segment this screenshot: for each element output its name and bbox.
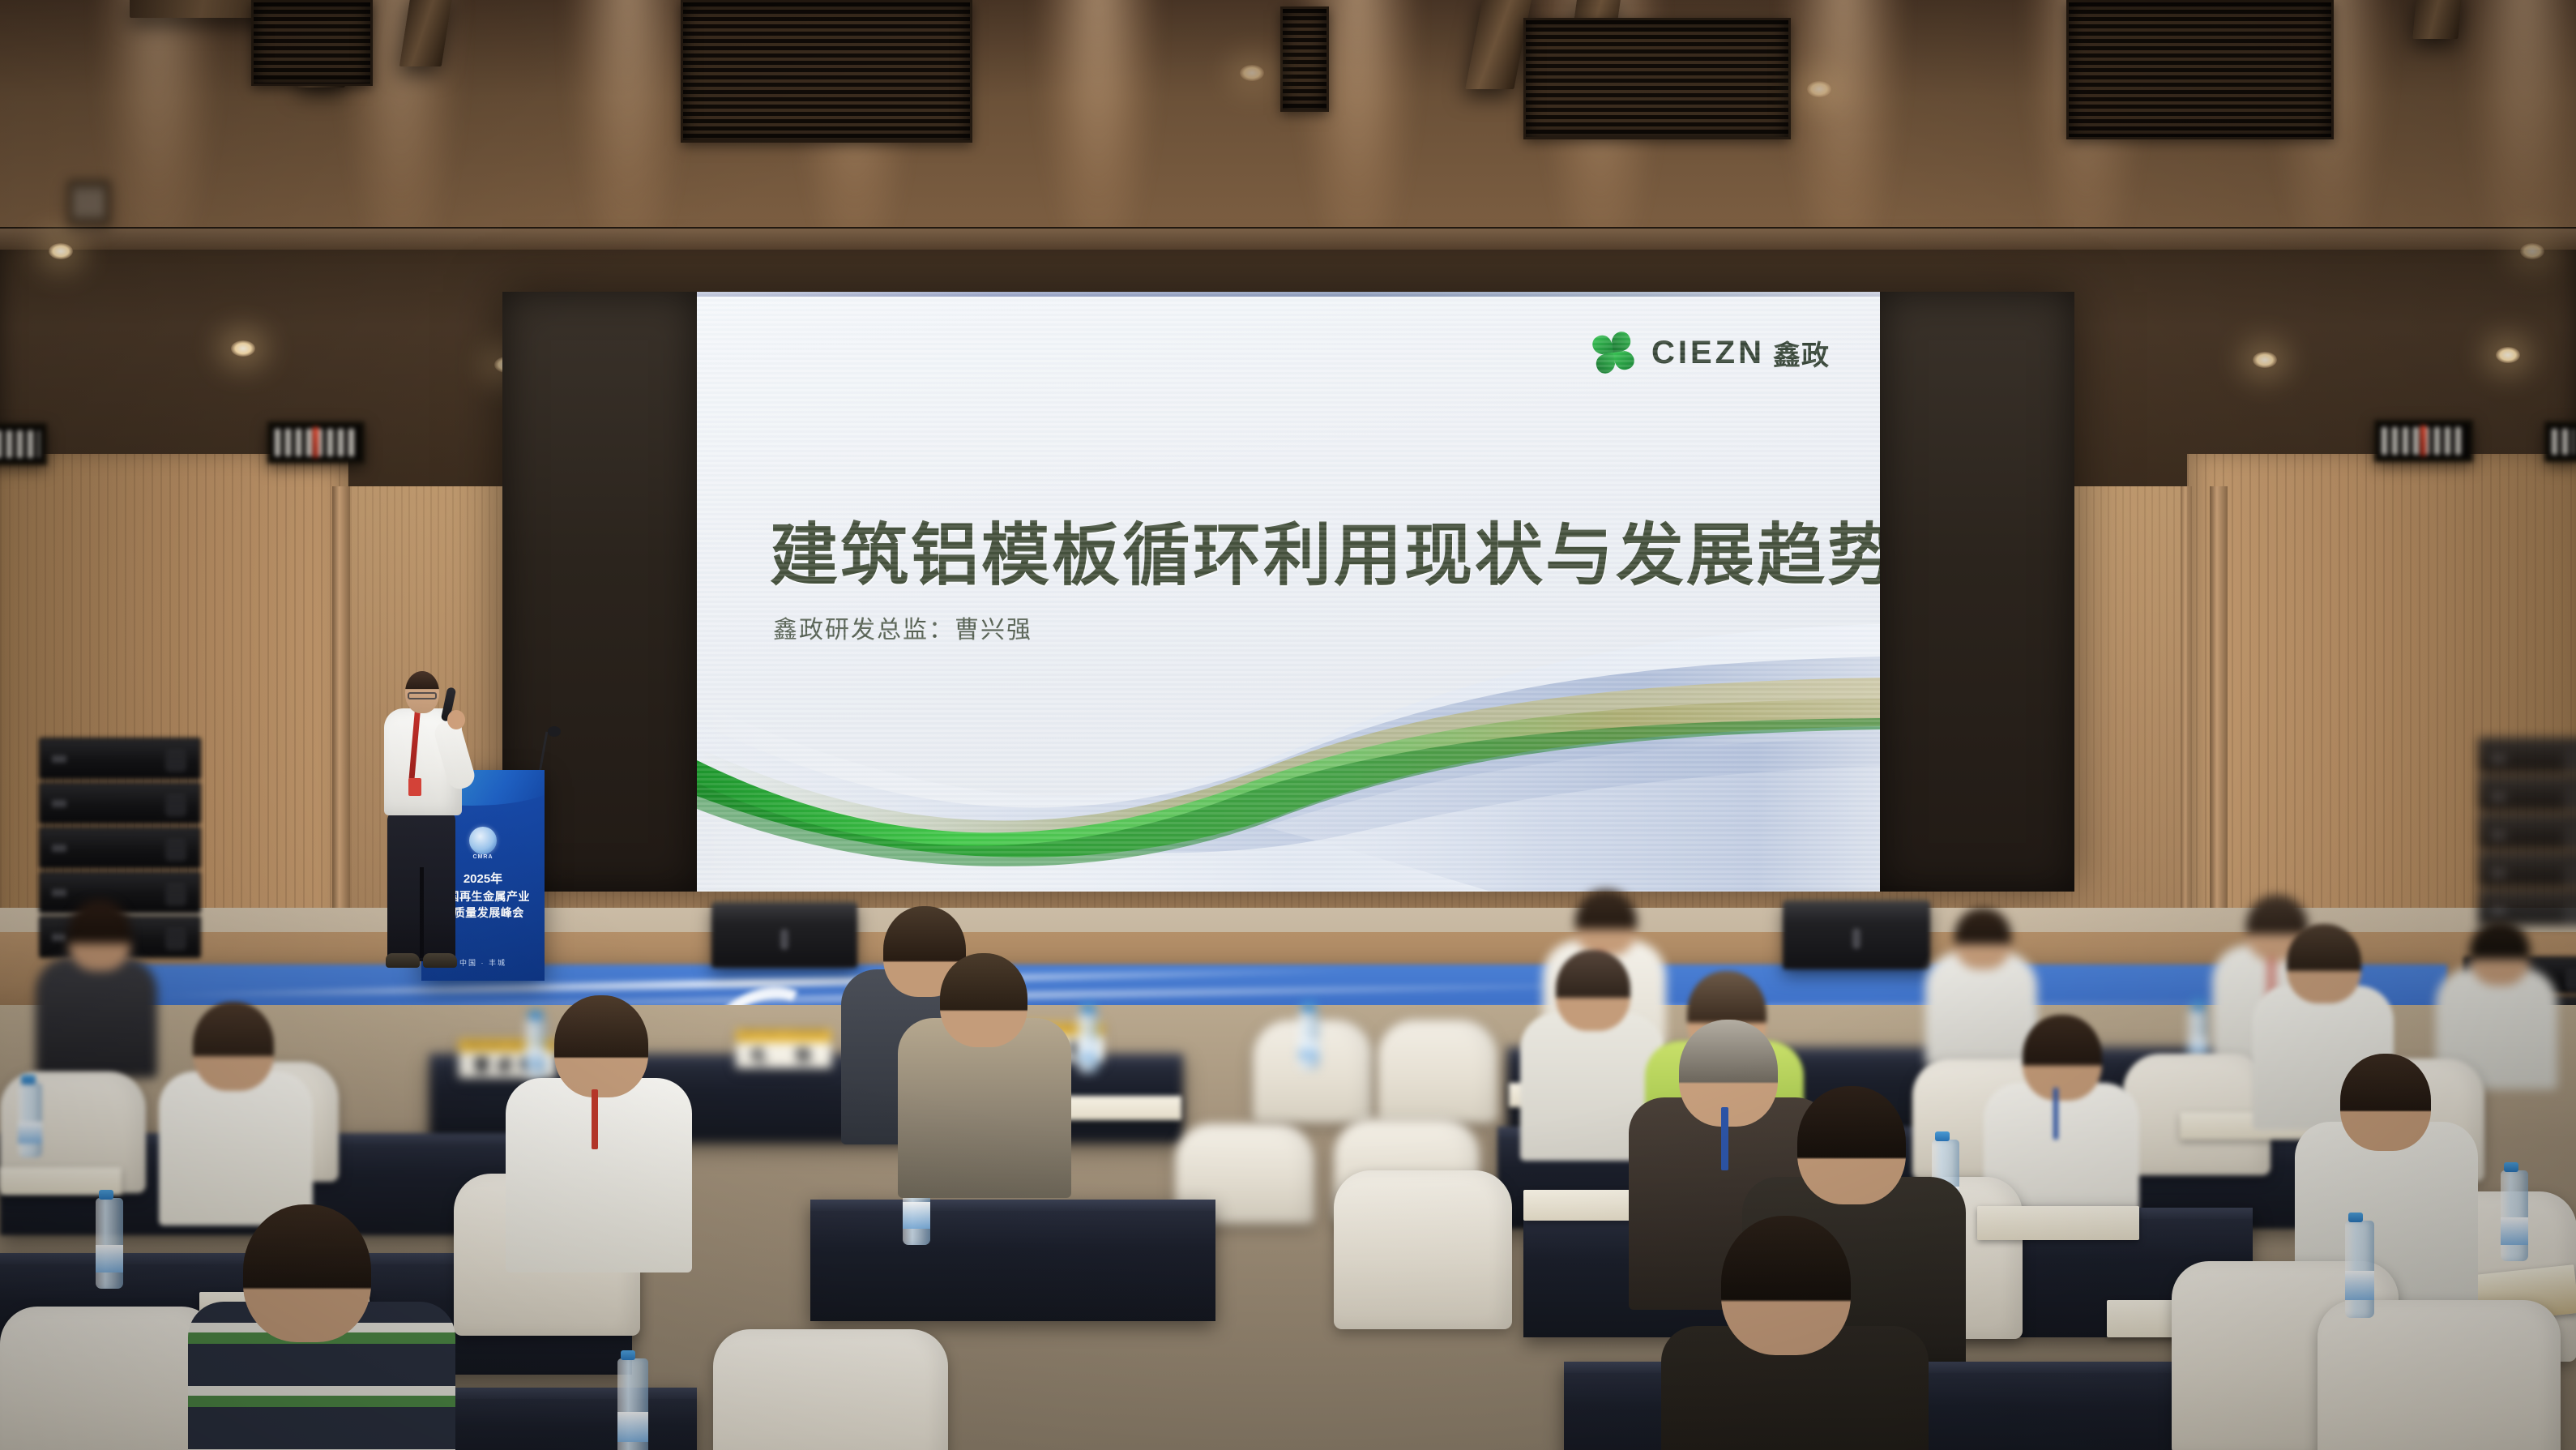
cmra-logo-label: CMRA [473, 854, 493, 860]
logo-wordmark: CIEZN 鑫政 [1651, 333, 1830, 373]
logo-latin: CIEZN [1651, 335, 1765, 371]
line-array-speaker-right-upper [2478, 738, 2576, 926]
table-row [810, 1200, 1215, 1321]
screen-bezel-right [1880, 292, 2074, 892]
water-bottle [1298, 1010, 1319, 1070]
stage-monitor-speaker [1783, 900, 1930, 969]
ciezn-pinwheel-icon [1588, 327, 1638, 378]
slide-wave-graphic [697, 624, 1880, 892]
ceiling-beam [2412, 0, 2462, 39]
ceiling-downlight [2520, 243, 2544, 259]
ceiling-air-vent [251, 0, 373, 86]
ceiling-downlight [231, 340, 255, 357]
ceiling-air-vent [1523, 18, 1791, 139]
presentation-slide: CIEZN 鑫政 建筑铝模板循环利用现状与发展趋势 鑫政研发总监：曹兴强 [697, 292, 1880, 892]
ceiling-upper-recess [0, 0, 2576, 243]
logo-chinese: 鑫政 [1773, 333, 1830, 373]
ceiling-air-vent [681, 0, 972, 143]
chair [713, 1329, 948, 1450]
chair [2318, 1300, 2561, 1450]
slide-brand-logo: CIEZN 鑫政 [1588, 327, 1830, 378]
notepad [1977, 1206, 2139, 1240]
presenter-glasses [408, 692, 437, 699]
presenter-shoe [386, 953, 420, 968]
chair [0, 1307, 219, 1450]
water-bottle [525, 1018, 546, 1078]
presenter-hand [447, 710, 465, 729]
water-bottle [2345, 1221, 2374, 1318]
podium-mic-head [548, 726, 561, 737]
conference-hall-photo: CIEZN 鑫政 建筑铝模板循环利用现状与发展趋势 鑫政研发总监：曹兴强 CMR… [0, 0, 2576, 1450]
ceiling-downlight [1807, 81, 1831, 97]
name-card-name: 毛 铁 [736, 1042, 831, 1068]
wall-art-shadowbox [2544, 421, 2576, 462]
chair [1334, 1170, 1512, 1329]
stage-led-screen-assembly: CIEZN 鑫政 建筑铝模板循环利用现状与发展趋势 鑫政研发总监：曹兴强 [502, 292, 2074, 892]
soffit-light-cove [0, 229, 2576, 250]
water-bottle [2501, 1170, 2528, 1261]
water-bottle [18, 1083, 42, 1157]
ceiling-downlight [49, 243, 73, 259]
presenter-shoe [423, 953, 457, 968]
slide-title: 建筑铝模板循环利用现状与发展趋势 [770, 501, 1880, 599]
stage-monitor-speaker [711, 901, 857, 968]
water-bottle [1078, 1012, 1099, 1073]
wall-art-shadowbox [68, 180, 110, 225]
slide-subtitle: 鑫政研发总监：曹兴强 [773, 610, 1032, 645]
ceiling-downlight [1240, 65, 1264, 81]
presenter-badge [408, 778, 421, 796]
ceiling-downlight [2253, 352, 2277, 368]
ceiling-downlight [2496, 347, 2520, 363]
name-card: 中国再生金属产业高质量发展峰会 毛 铁 [736, 1029, 831, 1068]
water-bottle [617, 1358, 648, 1450]
ceiling-air-vent [2066, 0, 2334, 139]
wall-art-shadowbox [267, 421, 365, 464]
chair [1378, 1020, 1497, 1123]
water-bottle [96, 1198, 123, 1289]
cmra-logo-icon [469, 827, 497, 854]
wall-art-shadowbox [2374, 420, 2473, 462]
wall-art-shadowbox [0, 423, 47, 465]
ceiling-air-vent [1280, 6, 1329, 112]
